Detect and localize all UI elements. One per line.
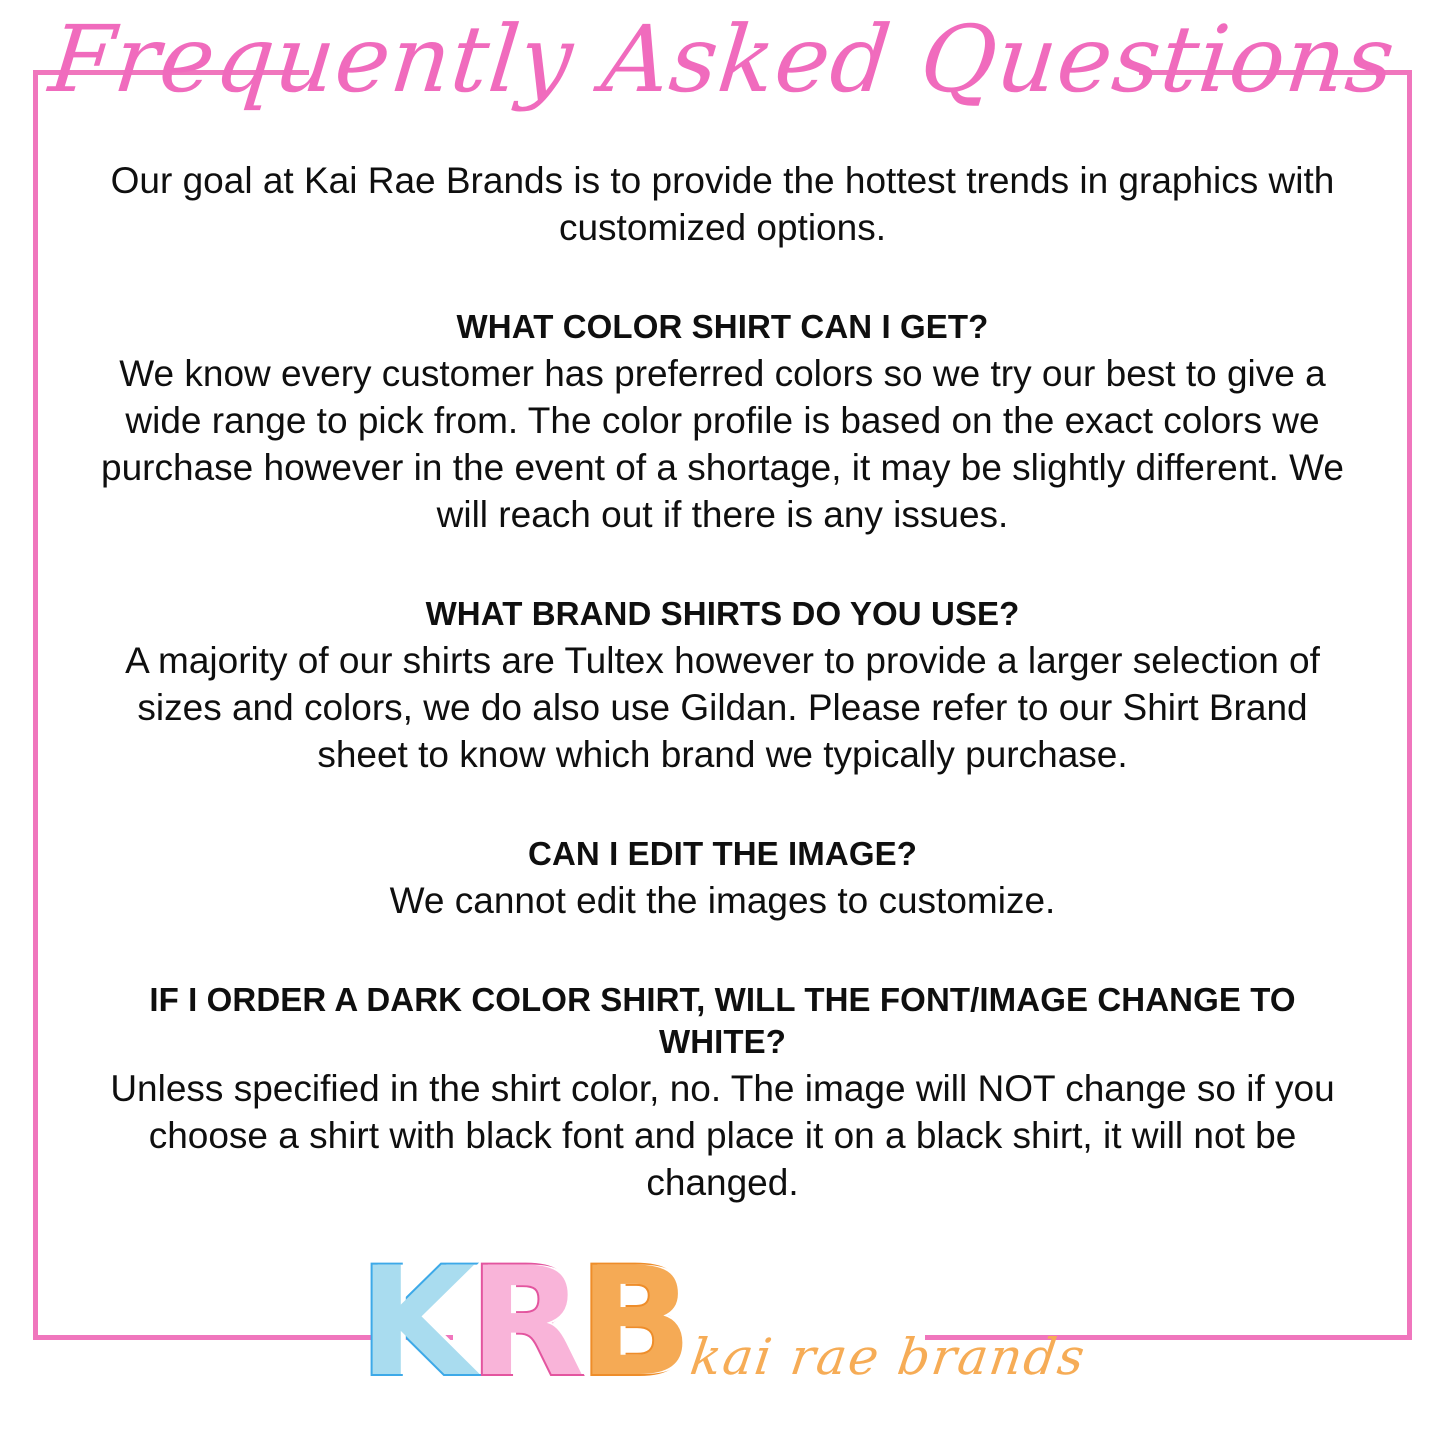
faq-item-3: CAN I EDIT THE IMAGE? We cannot edit the… (95, 833, 1350, 925)
logo-tagline: kai rae brands (688, 1332, 1090, 1382)
faq-answer-4: Unless specified in the shirt color, no.… (95, 1066, 1350, 1207)
faq-item-2: WHAT BRAND SHIRTS DO YOU USE? A majority… (95, 593, 1350, 779)
faq-answer-2: A majority of our shirts are Tultex howe… (95, 638, 1350, 779)
logo-letter-k: K (359, 1248, 469, 1398)
faq-item-1: WHAT COLOR SHIRT CAN I GET? We know ever… (95, 306, 1350, 539)
intro-paragraph: Our goal at Kai Rae Brands is to provide… (95, 158, 1350, 252)
faq-item-4: IF I ORDER A DARK COLOR SHIRT, WILL THE … (95, 979, 1350, 1208)
faq-answer-3: We cannot edit the images to customize. (95, 878, 1350, 925)
faq-answer-1: We know every customer has preferred col… (95, 351, 1350, 539)
logo-letter-b: B (579, 1248, 687, 1398)
logo-wordmark: KRB (359, 1248, 687, 1398)
frame-left-segment (33, 70, 38, 1340)
faq-content: Our goal at Kai Rae Brands is to provide… (95, 158, 1350, 1207)
brand-logo: KRB kai rae brands (0, 1248, 1445, 1398)
page-title: Frequently Asked Questions (0, 14, 1445, 106)
logo-letter-r: R (469, 1248, 579, 1398)
faq-page: Frequently Asked Questions Our goal at K… (0, 0, 1445, 1445)
faq-question-3: CAN I EDIT THE IMAGE? (95, 833, 1350, 876)
faq-question-4: IF I ORDER A DARK COLOR SHIRT, WILL THE … (95, 979, 1350, 1065)
faq-question-2: WHAT BRAND SHIRTS DO YOU USE? (95, 593, 1350, 636)
faq-question-1: WHAT COLOR SHIRT CAN I GET? (95, 306, 1350, 349)
frame-right-segment (1407, 70, 1412, 1340)
